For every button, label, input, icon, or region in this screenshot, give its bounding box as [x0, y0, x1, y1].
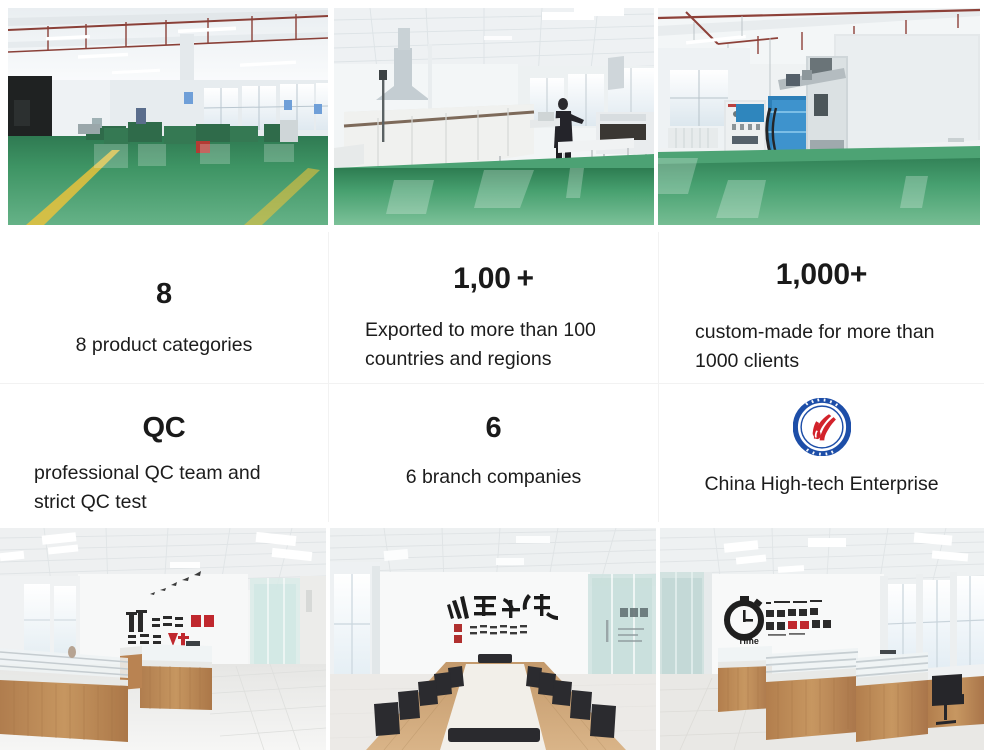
stat-cell-high-tech-enterprise: China High-tech Enterprise — [658, 383, 984, 522]
factory-workshop-photo[interactable] — [8, 8, 328, 225]
china-high-tech-enterprise-logo — [793, 398, 851, 456]
stat-value: 6 — [359, 414, 628, 443]
factory-workshop-illustration — [8, 8, 328, 225]
stat-cell-qc-team: QC professional QC team and strict QC te… — [0, 383, 328, 522]
company-capability-page: 8 8 product categories 1,00 + Exported t… — [0, 0, 984, 750]
stat-description: custom-made for more than 1000 clients — [689, 318, 954, 376]
stat-value: QC — [30, 414, 298, 443]
high-tech-emblem-icon — [793, 398, 851, 456]
production-line-illustration — [334, 8, 654, 225]
top-photo-row — [0, 8, 984, 225]
stat-cell-product-categories: 8 8 product categories — [0, 232, 328, 383]
stat-description: 6 branch companies — [359, 463, 628, 492]
stats-grid: 8 8 product categories 1,00 + Exported t… — [0, 232, 984, 522]
stat-value: 1,000+ — [689, 260, 954, 290]
stat-description: China High-tech Enterprise — [704, 470, 938, 499]
stat-description: professional QC team and strict QC test — [30, 459, 298, 517]
stat-description: 8 product categories — [30, 331, 298, 360]
meeting-room-illustration — [330, 528, 656, 750]
production-line-photo[interactable] — [334, 8, 654, 225]
testing-equipment-illustration — [658, 8, 980, 225]
stat-value: 1,00 + — [359, 264, 628, 294]
bottom-photo-row: Time — [0, 528, 984, 750]
office-workstations-photo[interactable]: Time — [660, 528, 984, 750]
stat-cell-export-countries: 1,00 + Exported to more than 100 countri… — [328, 232, 658, 383]
stat-description: Exported to more than 100 countries and … — [359, 316, 628, 374]
svg-text:Time: Time — [738, 636, 759, 646]
office-workstations-illustration: Time — [660, 528, 984, 750]
office-cubicles-photo[interactable] — [0, 528, 326, 750]
meeting-room-photo[interactable] — [330, 528, 656, 750]
stat-cell-custom-made-clients: 1,000+ custom-made for more than 1000 cl… — [658, 232, 984, 383]
stat-cell-branch-companies: 6 6 branch companies — [328, 383, 658, 522]
testing-equipment-photo[interactable] — [658, 8, 980, 225]
office-cubicles-illustration — [0, 528, 326, 750]
stat-value: 8 — [30, 280, 298, 309]
